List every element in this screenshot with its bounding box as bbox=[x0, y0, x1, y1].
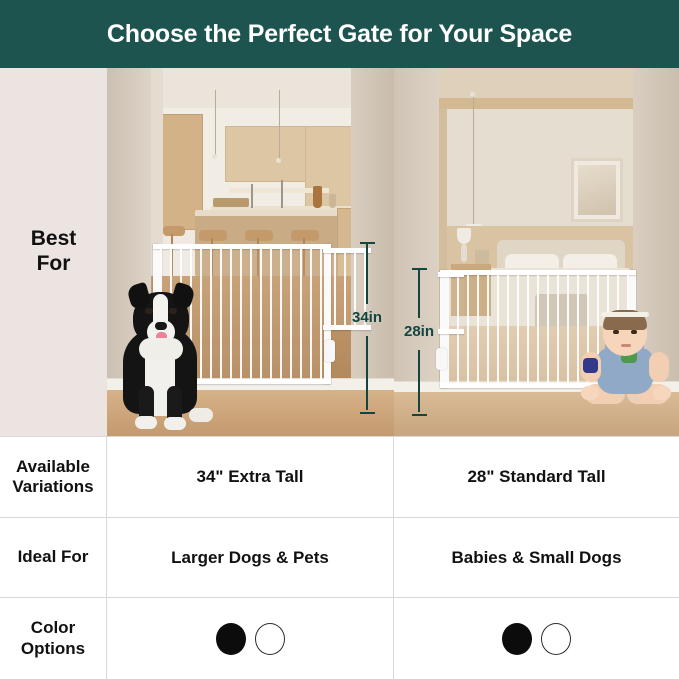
kitchen-faucet-2 bbox=[281, 180, 283, 208]
color-swatch-black-34in[interactable] bbox=[216, 623, 246, 655]
dog-nose bbox=[155, 322, 167, 330]
bedroom-pendant-cord bbox=[473, 96, 474, 226]
cell-color-options-right bbox=[394, 598, 679, 679]
wing-bottom-rail-2 bbox=[438, 329, 464, 334]
row-label-color-options: Color Options bbox=[0, 598, 107, 679]
measure-cap-bottom-34 bbox=[360, 412, 375, 414]
row-color-options: Color Options bbox=[0, 597, 679, 679]
cell-color-options-left bbox=[107, 598, 394, 679]
kitchen-faucet-1 bbox=[251, 184, 253, 208]
measure-line-upper-28 bbox=[418, 270, 420, 318]
bedroom-table-lamp-base bbox=[461, 244, 467, 262]
measure-label-28in: 28in bbox=[404, 324, 434, 339]
cell-ideal-for-left: Larger Dogs & Pets bbox=[107, 518, 394, 597]
row-label-best-for: Best For bbox=[0, 68, 107, 436]
row-label-ideal-for-line1: Ideal For bbox=[18, 547, 89, 567]
baby-toy-blue bbox=[583, 358, 598, 373]
color-swatches-28in bbox=[502, 623, 571, 655]
baby-foot-right bbox=[653, 386, 671, 400]
row-available-variations: Available Variations 34" Extra Tall 28" … bbox=[0, 436, 679, 517]
cell-variations-left: 34" Extra Tall bbox=[107, 437, 394, 517]
kitchen-jar bbox=[329, 194, 336, 208]
row-label-best-for-text: Best For bbox=[31, 227, 77, 277]
bar-stool-1 bbox=[163, 226, 185, 236]
row-label-color-options-line2: Options bbox=[21, 639, 85, 659]
dog-eye-right bbox=[169, 308, 177, 314]
bedroom-crown-molding bbox=[439, 98, 633, 109]
bar-stool-4 bbox=[291, 230, 319, 241]
color-swatch-white-28in[interactable] bbox=[541, 623, 571, 655]
dog-rear-paw bbox=[189, 408, 213, 422]
measure-line-lower-28 bbox=[418, 350, 420, 412]
baby-foot-left bbox=[581, 386, 599, 400]
bedroom-wall-art-canvas bbox=[578, 165, 616, 215]
product-photo-28in: 28in bbox=[394, 68, 679, 436]
bar-stool-3 bbox=[245, 230, 273, 241]
bedroom-table-lamp-shade bbox=[457, 228, 471, 244]
measurement-34in: 34in bbox=[348, 242, 386, 414]
color-swatch-white-34in[interactable] bbox=[255, 623, 285, 655]
row-label-best-for-line2: For bbox=[31, 252, 77, 277]
color-swatch-black-28in[interactable] bbox=[502, 623, 532, 655]
border-collie-dog bbox=[109, 268, 221, 436]
pendant-cord-1 bbox=[215, 90, 216, 156]
pendant-bulb-2 bbox=[276, 158, 281, 163]
baby-mouth bbox=[621, 344, 631, 347]
measure-cap-bottom-28 bbox=[412, 414, 427, 416]
row-label-available-variations-line2: Variations bbox=[12, 477, 93, 497]
row-ideal-for: Ideal For Larger Dogs & Pets Babies & Sm… bbox=[0, 517, 679, 597]
measure-line-upper-34 bbox=[366, 244, 368, 304]
row-label-color-options-line1: Color bbox=[21, 618, 85, 638]
gate-extension-wing-2 bbox=[438, 272, 464, 334]
cell-variations-right: 28" Standard Tall bbox=[394, 437, 679, 517]
row-label-available-variations-line1: Available bbox=[12, 457, 93, 477]
dog-eye-left bbox=[145, 308, 153, 314]
row-label-ideal-for: Ideal For bbox=[0, 518, 107, 597]
pendant-cord-2 bbox=[279, 90, 280, 160]
kitchen-vase bbox=[313, 186, 322, 208]
bar-stool-2 bbox=[199, 230, 227, 241]
row-label-available-variations: Available Variations bbox=[0, 437, 107, 517]
pendant-bulb-1 bbox=[212, 154, 217, 159]
baby-eye-left bbox=[613, 330, 619, 334]
wing-top-rail-2 bbox=[438, 272, 464, 277]
bedroom-wall-art bbox=[571, 158, 623, 222]
color-swatches-34in bbox=[216, 623, 285, 655]
measurement-28in: 28in bbox=[400, 268, 438, 416]
best-for-row: Best For bbox=[0, 68, 679, 436]
measure-line-lower-34 bbox=[366, 336, 368, 410]
baby-eye-right bbox=[631, 330, 637, 334]
product-photo-34in: 34in bbox=[107, 68, 394, 436]
dog-neck-ruff bbox=[139, 338, 183, 360]
row-label-best-for-line1: Best bbox=[31, 227, 77, 252]
gate-latch bbox=[324, 340, 335, 362]
baby-headband bbox=[601, 312, 649, 317]
bedroom-ceiling bbox=[439, 68, 633, 102]
dog-paw-right bbox=[164, 417, 186, 430]
baby-arm-right bbox=[649, 352, 669, 382]
gate-comparison-infographic: Choose the Perfect Gate for Your Space B… bbox=[0, 0, 679, 679]
dog-paw-left bbox=[135, 416, 157, 429]
cell-ideal-for-right: Babies & Small Dogs bbox=[394, 518, 679, 597]
measure-label-34in: 34in bbox=[352, 310, 382, 325]
bedroom-decor-box bbox=[475, 250, 489, 264]
kitchen-tray bbox=[213, 198, 249, 207]
header-banner: Choose the Perfect Gate for Your Space bbox=[0, 0, 679, 68]
toddler-baby bbox=[577, 306, 675, 428]
bedroom-pendant-mount bbox=[470, 92, 475, 97]
page-title: Choose the Perfect Gate for Your Space bbox=[107, 20, 572, 49]
